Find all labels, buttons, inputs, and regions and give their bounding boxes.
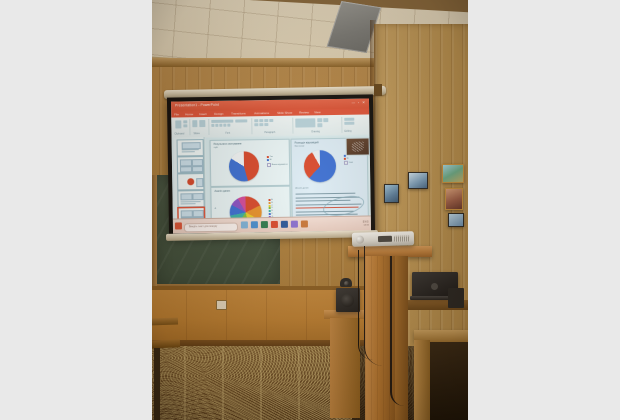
ribbon-group-drawing[interactable]: Drawing <box>293 117 342 134</box>
chart-3-title: Аналіз даних <box>214 190 230 194</box>
tab-transitions[interactable]: Transitions <box>231 111 246 115</box>
tab-insert[interactable]: Insert <box>199 112 207 116</box>
projector[interactable] <box>352 231 414 247</box>
framed-picture-3 <box>442 164 464 183</box>
slide-thumbnail-2[interactable] <box>176 156 203 173</box>
taskbar-icon-word[interactable] <box>281 221 288 228</box>
ribbon-group-editing-label: Editing <box>344 131 351 133</box>
projection-screen: Presentation1 - PowerPoint — ▫ ✕ File Ho… <box>167 94 375 237</box>
left-desk-leg <box>154 348 160 420</box>
chart-1-legend-item-0: Так <box>270 156 273 158</box>
chart-2-title: Розподіл відповідей <box>295 141 319 145</box>
projected-image: Presentation1 - PowerPoint — ▫ ✕ File Ho… <box>171 98 371 233</box>
front-desk-side <box>414 340 430 420</box>
framed-picture-1 <box>384 184 399 203</box>
power-cable <box>358 250 373 360</box>
taskbar-icon-browser[interactable] <box>251 221 258 228</box>
ribbon-group-font-label: Font <box>225 133 230 135</box>
monitor <box>448 288 464 308</box>
wall-top-trim <box>152 58 384 67</box>
pie-chart-2[interactable] <box>304 150 336 182</box>
powerpoint-window: Presentation1 - PowerPoint — ▫ ✕ File Ho… <box>171 98 371 233</box>
slide-thumbnail-4[interactable] <box>177 190 204 207</box>
analysis-heading: Аналіз даних <box>295 187 308 190</box>
chart-card-1[interactable]: Результати опитування right Так <box>210 139 291 187</box>
speaker <box>336 288 360 312</box>
window-title: Presentation1 - PowerPoint <box>175 102 219 107</box>
chart-2-legend-item-1: Ні <box>347 158 349 160</box>
powerpoint-workspace: Результати опитування right Так <box>172 134 371 219</box>
screenshot-canvas: Presentation1 - PowerPoint — ▫ ✕ File Ho… <box>0 0 620 420</box>
chalkboard-frame-left <box>152 175 157 291</box>
taskbar-icon-explorer[interactable] <box>241 221 248 228</box>
chart-3-legend-item-2: C <box>271 205 272 207</box>
taskbar-icon-folder[interactable] <box>301 220 308 227</box>
classroom-photo: Presentation1 - PowerPoint — ▫ ✕ File Ho… <box>152 0 468 420</box>
chart-1-subtitle: right <box>214 147 218 150</box>
projector-vent-icon <box>394 235 410 241</box>
window-controls[interactable]: — ▫ ✕ <box>352 100 366 104</box>
taskbar-search-input[interactable]: Введіть текст для пошуку <box>184 222 238 232</box>
tab-slide-show[interactable]: Slide Show <box>277 111 292 115</box>
taskbar-search-placeholder: Введіть текст для пошуку <box>189 225 217 228</box>
side-table-column <box>330 318 360 418</box>
ribbon-group-slides-label: Slides <box>193 133 199 135</box>
taskbar-clock[interactable]: 14:32 <box>363 224 369 226</box>
chart-3-legend-item-4: E <box>271 210 272 212</box>
chart-1-title: Результати опитування <box>214 142 242 146</box>
tab-view[interactable]: View <box>314 110 321 114</box>
ribbon-group-font[interactable]: Font <box>209 118 252 135</box>
projector-control-panel[interactable] <box>378 236 392 242</box>
tab-home[interactable]: Home <box>185 112 193 116</box>
pie-chart-1[interactable] <box>229 151 259 181</box>
chart-3-legend-item-1: B <box>271 202 272 204</box>
webcam-icon <box>340 278 352 287</box>
front-desk-shadow <box>430 342 468 420</box>
taskbar-icon-powerpoint[interactable] <box>271 221 278 228</box>
start-button-icon[interactable] <box>175 222 182 229</box>
taskbar-language-indicator[interactable]: ENG <box>363 220 369 223</box>
analysis-text-line <box>295 193 355 195</box>
tab-design[interactable]: Design <box>214 112 223 116</box>
left-desk-1 <box>152 317 178 325</box>
tab-file[interactable]: File <box>174 112 179 116</box>
tab-animations[interactable]: Animations <box>254 111 269 115</box>
slide-thumbnail-1[interactable] <box>176 139 203 156</box>
chart-3-legend-item-3: D <box>271 207 272 209</box>
ribbon-group-slides[interactable]: Slides <box>190 119 209 135</box>
taskbar-icon-excel[interactable] <box>261 221 268 228</box>
chart-3-legend-item-5: F <box>272 213 273 215</box>
framed-picture-4 <box>445 188 463 210</box>
ribbon-group-editing[interactable]: Editing <box>342 116 370 132</box>
slide-edit-canvas[interactable]: Результати опитування right Так <box>206 135 370 218</box>
chart-1-legend-item-1: Ні <box>270 159 272 161</box>
taskbar-icon-media[interactable] <box>291 221 298 228</box>
wall-power-outlet <box>216 300 227 310</box>
ribbon-group-clipboard[interactable]: Clipboard <box>173 119 190 135</box>
chart-2-subtitle: Висновки <box>295 145 305 148</box>
tab-review[interactable]: Review <box>299 110 309 114</box>
chart-3-legend-item-0: A <box>271 199 272 201</box>
slide-thumbnail-3[interactable] <box>177 173 204 190</box>
chart-1-legend-item-2: Важко відповісти <box>272 164 288 166</box>
video-preview-inset[interactable] <box>346 137 370 155</box>
framed-picture-5 <box>448 213 464 227</box>
ribbon-group-paragraph[interactable]: Paragraph <box>252 118 293 135</box>
ribbon-group-paragraph-label: Paragraph <box>264 132 275 134</box>
ribbon-group-drawing-label: Drawing <box>311 131 319 133</box>
floor-cable <box>390 256 404 406</box>
ribbon-group-clipboard-label: Clipboard <box>174 133 184 135</box>
framed-picture-2 <box>408 172 428 189</box>
projector-lens-icon <box>356 235 364 243</box>
slide-thumbnail-panel[interactable] <box>174 137 206 219</box>
chart-2-legend-item-2: Інше <box>349 162 353 164</box>
chart-3-callout: A <box>215 208 216 211</box>
screen-wall-bracket <box>374 84 382 96</box>
